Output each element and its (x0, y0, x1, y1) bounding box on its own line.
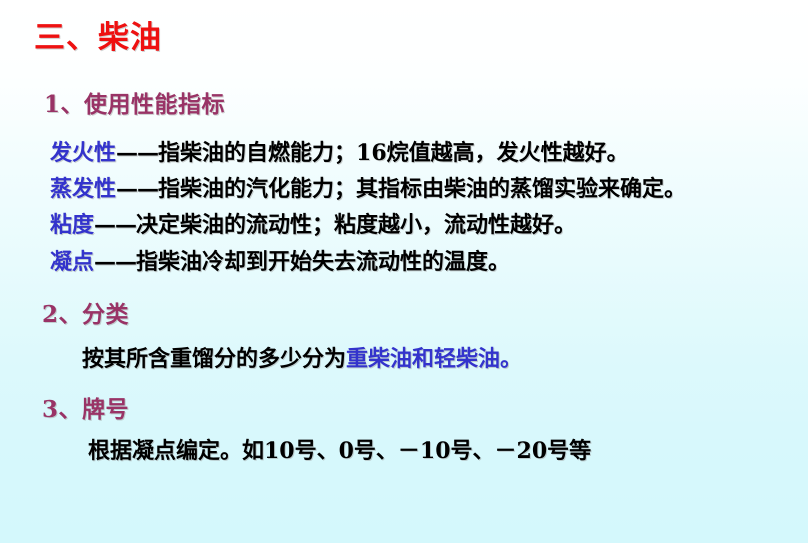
definition-term-3: 粘度 (50, 212, 94, 238)
definition-dash-2: —— (116, 176, 158, 202)
definition-dash-3: —— (94, 212, 136, 238)
definition-description-3: 决定柴油的流动性；粘度越小，流动性越好。 (136, 212, 576, 238)
definition-line-3: 粘度——决定柴油的流动性；粘度越小，流动性越好。 (50, 214, 576, 236)
definition-dash-1: —— (116, 140, 158, 166)
section-heading-1: 1、使用性能指标 (44, 93, 225, 116)
section-2-body-prefix: 按其所含重馏分的多少分为 (82, 346, 346, 372)
definition-description-2: 指柴油的汽化能力；其指标由柴油的蒸馏实验来确定。 (158, 176, 686, 202)
page-title: 三、柴油 (34, 23, 162, 54)
section-2-body: 按其所含重馏分的多少分为重柴油和轻柴油。 (82, 348, 522, 370)
definition-line-2: 蒸发性——指柴油的汽化能力；其指标由柴油的蒸馏实验来确定。 (50, 178, 686, 200)
section-2-body-suffix: 。 (500, 346, 522, 372)
section-heading-2: 2、分类 (42, 303, 129, 326)
definition-term-1: 发火性 (50, 140, 116, 166)
definition-description-1: 指柴油的自燃能力；16烷值越高，发火性越好。 (158, 140, 629, 166)
definition-term-2: 蒸发性 (50, 176, 116, 202)
definition-line-1: 发火性——指柴油的自燃能力；16烷值越高，发火性越好。 (50, 142, 629, 164)
definition-description-4: 指柴油冷却到开始失去流动性的温度。 (136, 249, 510, 275)
section-heading-3: 3、牌号 (42, 398, 129, 421)
definition-line-4: 凝点——指柴油冷却到开始失去流动性的温度。 (50, 251, 510, 273)
section-2-body-highlight: 重柴油和轻柴油 (346, 346, 500, 372)
definition-term-4: 凝点 (50, 249, 94, 275)
section-3-body: 根据凝点编定。如10号、0号、－10号、－20号等 (88, 440, 591, 462)
slide-canvas: 三、柴油 1、使用性能指标 发火性——指柴油的自燃能力；16烷值越高，发火性越好… (0, 0, 808, 543)
definition-dash-4: —— (94, 249, 136, 275)
